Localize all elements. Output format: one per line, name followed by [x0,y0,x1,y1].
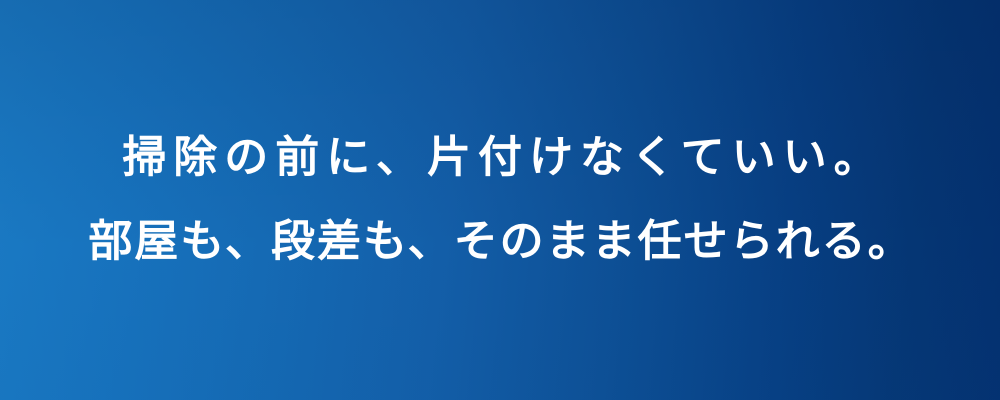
headline-line-1: 掃除の前に、片付けなくていい。 [86,136,913,180]
promo-banner: 掃除の前に、片付けなくていい。 部屋も、段差も、そのまま任せられる。 [0,0,1000,400]
headline-line-2: 部屋も、段差も、そのまま任せられる。 [86,220,913,264]
headline-block: 掃除の前に、片付けなくていい。 部屋も、段差も、そのまま任せられる。 [86,136,913,264]
